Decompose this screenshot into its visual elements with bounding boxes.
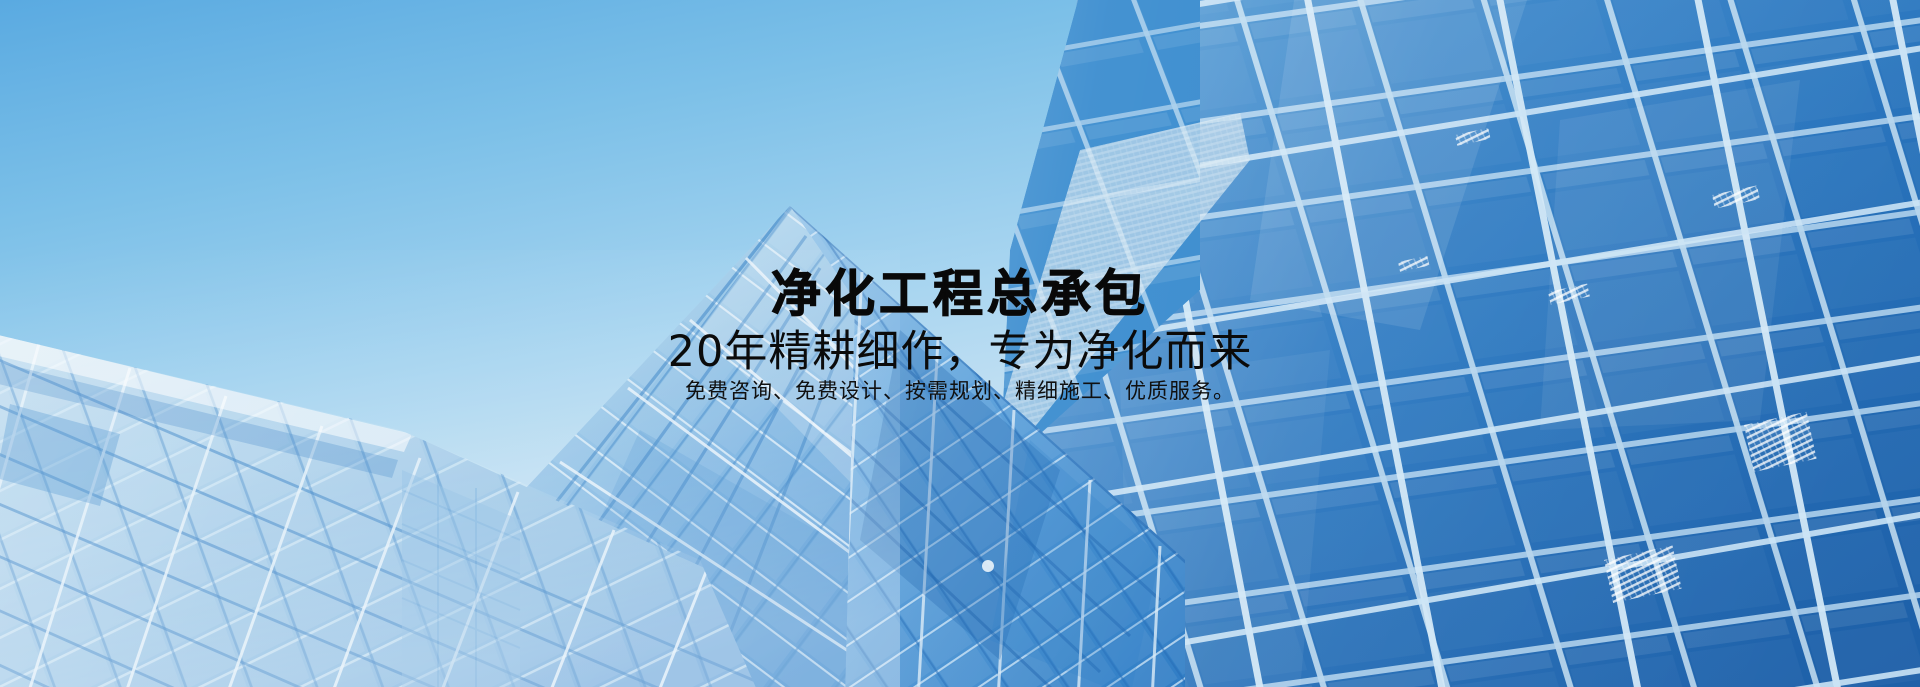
building-photo [0,0,1920,687]
hero-banner: 净化工程总承包 20年精耕细作，专为净化而来 免费咨询、免费设计、按需规划、精细… [0,0,1920,687]
